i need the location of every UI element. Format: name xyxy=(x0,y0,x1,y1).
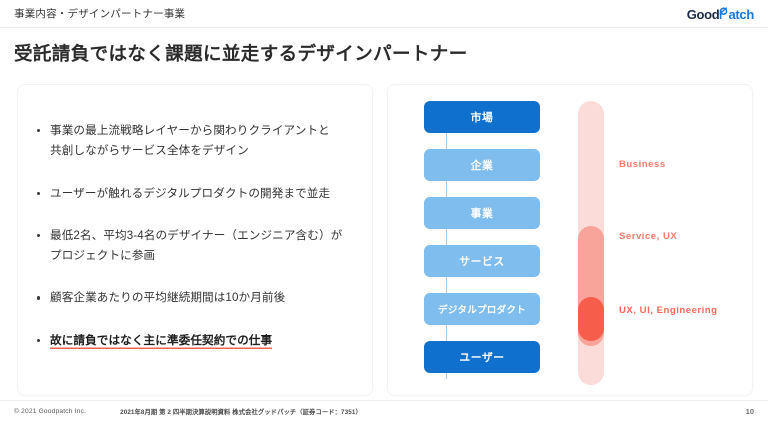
slide: 事業内容・デザインパートナー事業 Good atch 受託請負ではなく課題に並走… xyxy=(0,0,768,422)
bullet-line-1: 故に請負ではなく主に準委任契約での仕事 xyxy=(50,334,272,349)
flow-box-user: ユーザー xyxy=(424,341,540,373)
list-item: ユーザーが触れるデジタルプロダクトの開発まで並走 xyxy=(34,184,354,204)
list-item-highlighted: 故に請負ではなく主に準委任契約での仕事 xyxy=(34,331,354,351)
list-item: 最低2名、平均3-4名のデザイナー（エンジニア含む）が プロジェクトに参画 xyxy=(34,226,354,267)
bullet-line-1: ユーザーが触れるデジタルプロダクトの開発まで並走 xyxy=(50,187,330,200)
bullet-line-1: 最低2名、平均3-4名のデザイナー（エンジニア含む）が xyxy=(50,229,342,242)
footer-copyright: © 2021 Goodpatch Inc. xyxy=(14,408,86,415)
scale-label-ux-ui-engineering: UX, UI, Engineering xyxy=(619,305,718,316)
bullet-line-1: 顧客企業あたりの平均継続期間は10か月前後 xyxy=(50,291,285,304)
content-cards: 事業の最上流戦略レイヤーから関わりクライアントと 共創しながらサービス全体をデザ… xyxy=(18,85,752,395)
list-item: 事業の最上流戦略レイヤーから関わりクライアントと 共創しながらサービス全体をデザ… xyxy=(34,121,354,162)
slide-footer: © 2021 Goodpatch Inc. 2021年8月期 第 2 四半期決算… xyxy=(0,400,768,422)
bullet-line-1: 事業の最上流戦略レイヤーから関わりクライアントと xyxy=(50,124,330,137)
footer-document-title: 2021年8月期 第 2 四半期決算説明資料 株式会社グッドパッチ（証券コード：… xyxy=(120,407,362,416)
flow-box-company: 企業 xyxy=(424,149,540,181)
scale-label-service-ux: Service, UX xyxy=(619,231,677,242)
page-number: 10 xyxy=(746,407,754,416)
bullet-line-2: 共創しながらサービス全体をデザイン xyxy=(50,144,249,157)
flow-box-market: 市場 xyxy=(424,101,540,133)
slide-header: 事業内容・デザインパートナー事業 Good atch xyxy=(0,0,768,28)
scale-label-business: Business xyxy=(619,159,666,170)
intensity-bar xyxy=(578,101,604,385)
flow-box-service: サービス xyxy=(424,245,540,277)
bullet-card: 事業の最上流戦略レイヤーから関わりクライアントと 共創しながらサービス全体をデザ… xyxy=(18,85,372,395)
intensity-bar-strong-segment xyxy=(578,297,604,341)
flow-box-business: 事業 xyxy=(424,197,540,229)
logo-text-good: Good xyxy=(687,8,720,21)
list-item: 顧客企業あたりの平均継続期間は10か月前後 xyxy=(34,288,354,308)
diagram-card: 市場 企業 事業 サービス デジタルプロダクト ユーザー Business Se… xyxy=(388,85,752,395)
flow-box-digital-product: デジタルプロダクト xyxy=(424,293,540,325)
page-title: 受託請負ではなく課題に並走するデザインパートナー xyxy=(14,40,468,66)
bullet-line-2: プロジェクトに参画 xyxy=(50,249,155,262)
breadcrumb: 事業内容・デザインパートナー事業 xyxy=(14,6,185,21)
logo-p-icon xyxy=(719,6,728,19)
logo-text-atch: atch xyxy=(728,8,754,21)
flow-diagram: 市場 企業 事業 サービス デジタルプロダクト ユーザー xyxy=(424,101,540,373)
bullet-list: 事業の最上流戦略レイヤーから関わりクライアントと 共創しながらサービス全体をデザ… xyxy=(34,121,354,351)
goodpatch-logo: Good atch xyxy=(687,6,754,21)
